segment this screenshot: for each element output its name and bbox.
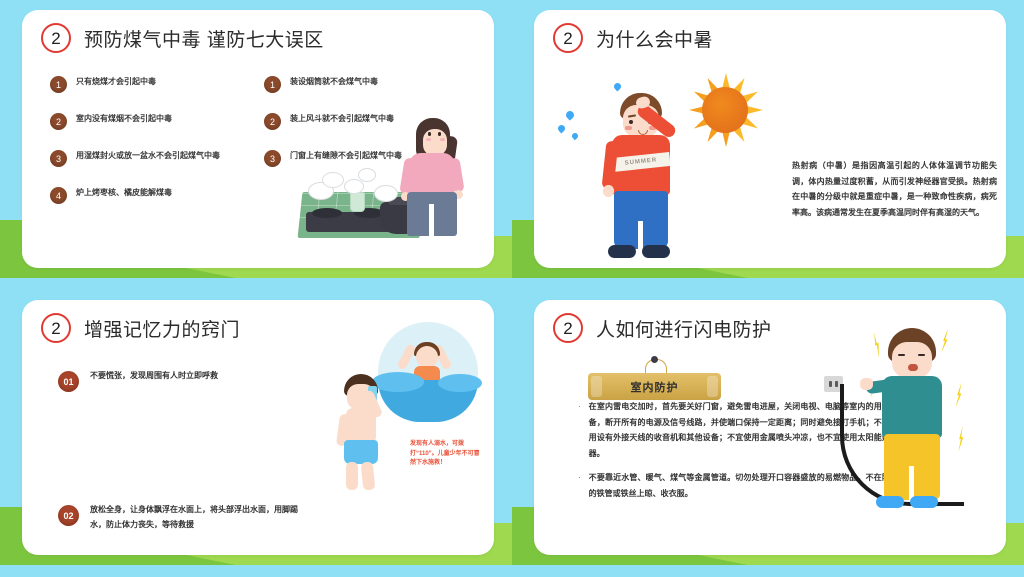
- section-badge: 2: [41, 23, 71, 53]
- list-item: 4 炉上烤枣核、橘皮能解煤毒: [50, 186, 240, 204]
- sweat-drop-icon: [613, 82, 623, 92]
- burner-icon: [312, 208, 342, 218]
- shoe: [910, 496, 938, 508]
- sun-icon: [690, 75, 760, 145]
- mouth: [908, 364, 918, 371]
- face: [416, 346, 438, 368]
- grass-bump-2: [512, 224, 536, 250]
- item-number: 3: [50, 150, 67, 167]
- boy-calling-figure: [328, 374, 406, 492]
- slide-1: 2 预防煤气中毒 谨防七大误区 1 只有烧煤才会引起中毒 2 室内没有煤烟不会引…: [0, 0, 512, 290]
- cheek: [426, 138, 431, 141]
- face: [423, 129, 447, 156]
- gas-stove-illustration: [296, 118, 476, 238]
- heatstroke-illustration: SUMMER: [552, 67, 802, 268]
- slide-card-2: 2 为什么会中暑: [534, 10, 1006, 268]
- sweat-drop-icon: [564, 109, 575, 120]
- item-number: 01: [58, 371, 79, 392]
- item-text: 炉上烤枣核、橘皮能解煤毒: [76, 186, 172, 200]
- smoke-icon: [374, 185, 398, 202]
- shoe: [876, 496, 904, 508]
- slide-header-1: 2 预防煤气中毒 谨防七大误区: [22, 10, 494, 53]
- list-item: 01 不要慌张，发现周围有人时立即呼救: [58, 369, 238, 489]
- smoke-icon: [344, 179, 364, 194]
- electric-shock-illustration: [846, 322, 996, 522]
- wooden-sign: 室内防护: [588, 369, 721, 399]
- bullet-marker: ·: [578, 399, 581, 461]
- item-number: 1: [264, 76, 281, 93]
- nail-icon: [651, 356, 658, 363]
- grass-bump-3: [0, 511, 24, 537]
- face: [892, 342, 932, 378]
- trousers: [884, 434, 940, 500]
- grass-bump-1: [0, 224, 24, 250]
- slide-grid: 2 预防煤气中毒 谨防七大误区 1 只有烧煤才会引起中毒 2 室内没有煤烟不会引…: [0, 0, 1024, 577]
- body-paragraph: 热射病（中暑）是指因高温引起的人体体温调节功能失调，体内热量过度积蓄，从而引发神…: [792, 158, 997, 220]
- sweat-drop-icon: [557, 124, 567, 134]
- sweater: [409, 153, 455, 195]
- section-badge: 2: [553, 23, 583, 53]
- drowning-illustration: 发现有人溺水，可拨打“110”。儿童少年不可冒然下水施救！: [320, 322, 480, 492]
- item-text: 室内没有煤烟不会引起中毒: [76, 112, 172, 126]
- item-text: 不要慌张，发现周围有人时立即呼救: [90, 369, 238, 384]
- cheek: [440, 138, 445, 141]
- slide-card-3: 2 增强记忆力的窍门 01 不要慌张，发现周围有人时立即呼救 02 放松全身，让…: [22, 300, 494, 555]
- item-number: 4: [50, 187, 67, 204]
- cheek: [625, 126, 632, 130]
- list-item: 3 用湿煤封火或放一盆水不会引起煤气中毒: [50, 149, 240, 167]
- eye: [918, 354, 925, 356]
- list-item: 1 只有烧煤才会引起中毒: [50, 75, 240, 93]
- page-title: 人如何进行闪电防护: [596, 315, 772, 342]
- list-item: 1 装设烟筒就不会煤气中毒: [264, 75, 454, 93]
- slide-card-4: 2 人如何进行闪电防护 室内防护 · 在室内雷电交加时，首先要关好门窗，避免雷电…: [534, 300, 1006, 555]
- eye: [438, 132, 441, 136]
- lightning-bolt-icon: [871, 332, 883, 359]
- swim-shorts: [344, 440, 378, 464]
- section-badge: 2: [41, 313, 71, 343]
- leg: [361, 461, 376, 490]
- eye: [898, 354, 905, 356]
- item-text: 用湿煤封火或放一盆水不会引起煤气中毒: [76, 149, 220, 163]
- shorts: [614, 191, 668, 249]
- item-number: 2: [264, 113, 281, 130]
- slide-3: 2 增强记忆力的窍门 01 不要慌张，发现周围有人时立即呼救 02 放松全身，让…: [0, 290, 512, 577]
- item-text: 放松全身，让身体飘浮在水面上，将头部浮出水面，用脚踢水，防止体力丧失，等待救援: [90, 503, 308, 533]
- section-badge: 2: [553, 313, 583, 343]
- page-title: 预防煤气中毒 谨防七大误区: [84, 25, 324, 52]
- item-number: 02: [58, 505, 79, 526]
- trousers: [407, 192, 457, 236]
- boy-figure: SUMMER: [598, 93, 692, 268]
- heatstroke-body: SUMMER 热射病（中暑）是指因高温引起的人体体温调节功能失调，体内热量过度积…: [534, 53, 1006, 268]
- page-title: 为什么会中暑: [596, 25, 713, 52]
- illustration-caption: 发现有人溺水，可拨打“110”。儿童少年不可冒然下水施救！: [410, 440, 482, 469]
- hand: [860, 378, 873, 390]
- item-text: 装设烟筒就不会煤气中毒: [290, 75, 378, 89]
- woman-figure: [396, 118, 470, 236]
- list-item: 02 放松全身，让身体飘浮在水面上，将头部浮出水面，用脚踢水，防止体力丧失，等待…: [58, 503, 308, 555]
- item-number: 1: [50, 76, 67, 93]
- sign-board: 室内防护: [588, 373, 721, 400]
- sweat-drop-icon: [571, 132, 579, 140]
- cup-icon: [350, 192, 365, 212]
- sun-core: [702, 87, 748, 133]
- smoke-icon: [358, 168, 376, 182]
- grass-bump-4: [512, 511, 536, 537]
- lightning-bolt-icon: [939, 328, 950, 355]
- eye: [428, 132, 431, 136]
- column-left: 1 只有烧煤才会引起中毒 2 室内没有煤烟不会引起中毒 3 用湿煤封火或放一盆水…: [50, 75, 240, 223]
- smoke-icon: [322, 172, 344, 188]
- sign-label: 室内防护: [631, 379, 679, 395]
- torso: [346, 408, 376, 444]
- shoe: [642, 245, 670, 258]
- item-text: 只有烧煤才会引起中毒: [76, 75, 156, 89]
- eye: [629, 120, 633, 124]
- slide-4: 2 人如何进行闪电防护 室内防护 · 在室内雷电交加时，首先要关好门窗，避免雷电…: [512, 290, 1024, 577]
- bullet-marker: ·: [578, 470, 581, 501]
- page-title: 增强记忆力的窍门: [84, 315, 240, 342]
- leg: [346, 462, 358, 490]
- hand: [603, 185, 614, 197]
- slide-2: 2 为什么会中暑: [512, 0, 1024, 290]
- item-number: 3: [264, 150, 281, 167]
- item-number: 2: [50, 113, 67, 130]
- slide-header-2: 2 为什么会中暑: [534, 10, 1006, 53]
- shoe: [608, 245, 636, 258]
- slide-card-1: 2 预防煤气中毒 谨防七大误区 1 只有烧煤才会引起中毒 2 室内没有煤烟不会引…: [22, 10, 494, 268]
- list-item: 2 室内没有煤烟不会引起中毒: [50, 112, 240, 130]
